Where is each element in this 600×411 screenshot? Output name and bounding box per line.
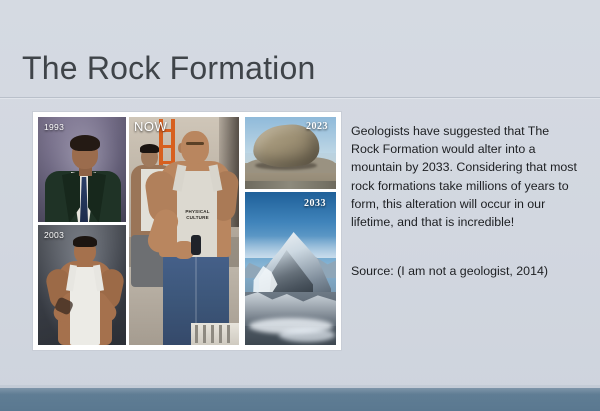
footer-band <box>0 388 600 411</box>
collage-gutter-right <box>239 112 245 350</box>
photo-collage: 1993 2003 <box>33 112 341 350</box>
collage-gutter-left <box>126 112 129 350</box>
collage-gutter-horizontal-left <box>38 222 126 225</box>
year-label-1993: 1993 <box>44 122 64 132</box>
bystander-hair <box>140 144 159 153</box>
bench-railing <box>191 323 239 345</box>
body-text-block: Geologists have suggested that The Rock … <box>351 122 579 231</box>
collage-panel-2003: 2003 <box>38 225 126 345</box>
collage-panel-now: PHYSICAL CULTURE NOW <box>129 117 239 345</box>
collage-panel-2033: 2033 <box>245 192 336 345</box>
body-paragraph: Geologists have suggested that The Rock … <box>351 122 579 231</box>
brow <box>186 142 204 145</box>
source-citation: Source: (I am not a geologist, 2014) <box>351 262 581 280</box>
year-label-2033: 2033 <box>304 198 326 209</box>
face <box>181 131 209 164</box>
handheld-object <box>191 235 201 255</box>
tank-top-graphic-text: PHYSICAL CULTURE <box>180 209 215 221</box>
page-title: The Rock Formation <box>22 50 315 87</box>
hair <box>73 236 97 247</box>
slide: The Rock Formation 1993 <box>0 0 600 411</box>
hair <box>70 135 100 151</box>
year-label-2003: 2003 <box>44 230 64 240</box>
collage-gutter-horizontal-right <box>245 189 336 192</box>
cloud-secondary <box>279 328 335 342</box>
collage-panel-2023: 2023 <box>245 117 336 189</box>
year-label-now: NOW <box>134 119 167 134</box>
collage-panel-1993: 1993 <box>38 117 126 222</box>
year-label-2023: 2023 <box>306 121 328 132</box>
title-divider <box>0 97 600 99</box>
photo-foreground-strip <box>245 181 336 189</box>
